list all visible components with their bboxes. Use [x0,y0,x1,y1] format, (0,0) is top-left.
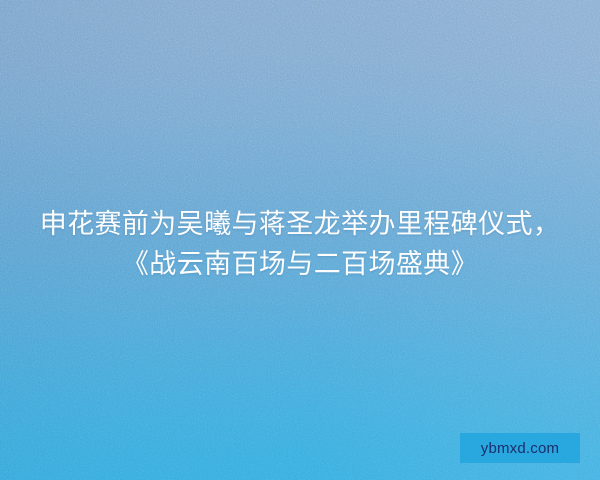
page-title: 申花赛前为吴曦与蒋圣龙举办里程碑仪式，《战云南百场与二百场盛典》 [0,204,600,284]
watermark-label: ybmxd.com [481,441,560,456]
watermark-badge: ybmxd.com [460,433,580,463]
cover-image-canvas: 申花赛前为吴曦与蒋圣龙举办里程碑仪式，《战云南百场与二百场盛典》 ybmxd.c… [0,0,600,480]
